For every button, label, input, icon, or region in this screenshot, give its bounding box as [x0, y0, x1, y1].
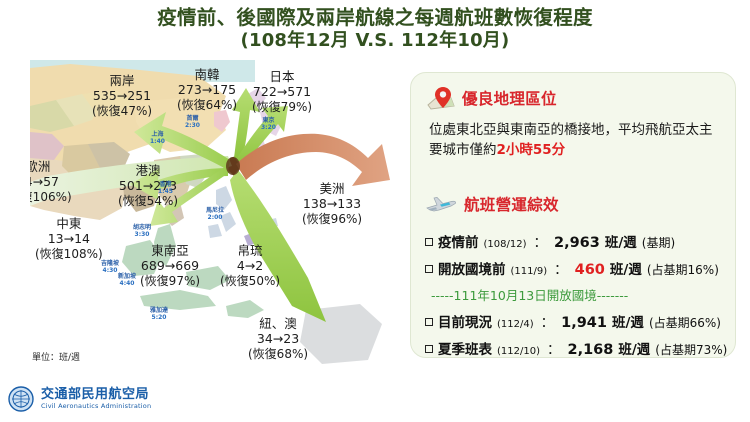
region-name: 中東: [35, 217, 103, 232]
operations-heading: 航班營運綜效: [464, 193, 559, 215]
geography-text: 位處東北亞與東南亞的橋接地，平均飛航亞太主要城市僅約: [429, 122, 713, 158]
stat-unit: 班/週: [618, 338, 650, 358]
stat-row: 開放國境前 (111/9) ： 460 班/週 (占基期16%): [425, 258, 729, 278]
stat-colon: ：: [541, 311, 555, 331]
stat-label: 夏季班表: [438, 338, 492, 358]
region-recovery: (恢復50%): [220, 274, 280, 288]
geography-highlight: 2小時55分: [497, 142, 566, 158]
geography-description: 位處東北亞與東南亞的橋接地，平均飛航亞太主要城市僅約2小時55分: [429, 120, 725, 161]
region-recovery: (恢復68%): [248, 347, 308, 361]
region-flights: 689→669: [140, 259, 200, 274]
stat-share: (占基期16%): [647, 261, 719, 278]
operations-section-header: 航班營運綜效: [425, 193, 559, 215]
city-marker: 胡志明 3:30: [133, 225, 151, 238]
region-label: 兩岸 535→251 (恢復47%): [92, 74, 152, 118]
stat-row: 目前現況 (112/4) ： 1,941 班/週 (占基期66%): [425, 311, 729, 331]
route-map: 兩岸 535→251 (恢復47%) 南韓 273→175 (恢復64%) 日本…: [30, 60, 402, 378]
unit-label: 單位：班/週: [32, 350, 80, 363]
stat-share: (占基期66%): [649, 314, 721, 331]
checkbox-icon: [425, 345, 433, 353]
region-name: 南韓: [177, 68, 237, 83]
stat-date: (112/4): [497, 319, 534, 330]
region-recovery: (恢復108%): [35, 247, 103, 261]
region-recovery: (恢復54%): [118, 194, 178, 208]
region-flights: 54→57: [30, 175, 72, 190]
region-label: 東南亞 689→669 (恢復97%): [140, 244, 200, 288]
stat-value: 2,168: [567, 342, 613, 358]
stat-date: (108/12): [484, 239, 527, 250]
region-name: 帛琉: [220, 244, 280, 259]
stat-unit: 班/週: [610, 258, 642, 278]
region-recovery: (恢復106%): [30, 190, 72, 204]
stat-value: 2,963: [554, 235, 600, 251]
stat-share: (基期): [642, 234, 675, 251]
region-flights: 535→251: [92, 89, 152, 104]
region-name: 兩岸: [92, 74, 152, 89]
checkbox-icon: [425, 265, 433, 273]
city-marker: 東京 3:20: [261, 118, 276, 131]
stat-row: 夏季班表 (112/10) ： 2,168 班/週 (占基期73%): [425, 338, 729, 358]
region-flights: 34→23: [248, 332, 308, 347]
region-recovery: (恢復97%): [140, 274, 200, 288]
agency-name-cn: 交通部民用航空局: [41, 388, 151, 403]
city-marker: 雅加達 5:20: [150, 308, 168, 321]
checkbox-icon: [425, 238, 433, 246]
stat-date: (112/10): [497, 346, 540, 357]
stat-unit: 班/週: [612, 311, 644, 331]
agency-name-block: 交通部民用航空局 Civil Aeronautics Administratio…: [41, 388, 151, 410]
city-marker: 首爾 2:30: [185, 116, 200, 129]
region-label: 紐、澳 34→23 (恢復68%): [248, 317, 308, 361]
region-label: 南韓 273→175 (恢復64%): [177, 68, 237, 112]
stat-colon: ：: [533, 231, 547, 251]
geography-section-header: 優良地理區位: [425, 85, 557, 111]
region-label: 日本 722→571 (恢復79%): [252, 70, 312, 114]
flight-statistics-list: 疫情前 (108/12) ： 2,963 班/週 (基期) 開放國境前 (111…: [425, 231, 729, 365]
infographic-page: 疫情前、後國際及兩岸航線之每週航班數恢復程度 (108年12月 V.S. 112…: [0, 0, 750, 422]
caa-logo-icon: [8, 386, 34, 412]
city-marker: 吉隆坡 4:30: [101, 261, 119, 274]
region-flights: 138→133: [302, 197, 362, 212]
page-title: 疫情前、後國際及兩岸航線之每週航班數恢復程度 (108年12月 V.S. 112…: [0, 6, 750, 53]
region-label: 中東 13→14 (恢復108%): [35, 217, 103, 261]
location-pin-icon: [425, 85, 455, 111]
city-flight-time: 2:00: [206, 215, 224, 222]
summary-panel: 優良地理區位 位處東北亞與東南亞的橋接地，平均飛航亞太主要城市僅約2小時55分 …: [410, 72, 736, 358]
region-name: 歐洲: [30, 160, 72, 175]
city-flight-time: 4:40: [118, 281, 136, 288]
city-flight-time: 4:30: [101, 268, 119, 275]
region-label: 歐洲 54→57 (恢復106%): [30, 160, 72, 204]
region-recovery: (恢復79%): [252, 100, 312, 114]
city-marker: 上海 1:40: [150, 132, 165, 145]
title-line-2: (108年12月 V.S. 112年10月): [0, 30, 750, 53]
stat-value: 460: [575, 262, 605, 278]
region-recovery: (恢復64%): [177, 98, 237, 112]
city-flight-time: 1:45: [158, 189, 173, 196]
city-flight-time: 3:20: [261, 125, 276, 132]
region-flights: 4→2: [220, 259, 280, 274]
stat-date: (111/9): [511, 266, 548, 277]
city-flight-time: 2:30: [185, 123, 200, 130]
stat-label: 目前現況: [438, 311, 492, 331]
region-name: 美洲: [302, 182, 362, 197]
title-line-1: 疫情前、後國際及兩岸航線之每週航班數恢復程度: [0, 6, 750, 30]
city-flight-time: 5:20: [150, 315, 168, 322]
city-flight-time: 3:30: [133, 232, 151, 239]
city-flight-time: 1:40: [150, 139, 165, 146]
agency-footer: 交通部民用航空局 Civil Aeronautics Administratio…: [8, 386, 151, 412]
region-label: 帛琉 4→2 (恢復50%): [220, 244, 280, 288]
stat-colon: ：: [554, 258, 568, 278]
stat-unit: 班/週: [605, 231, 637, 251]
region-name: 日本: [252, 70, 312, 85]
stat-colon: ：: [547, 338, 561, 358]
city-marker: 香港 1:45: [158, 182, 173, 195]
region-label: 美洲 138→133 (恢復96%): [302, 182, 362, 226]
region-name: 港澳: [118, 164, 178, 179]
agency-name-en: Civil Aeronautics Administration: [41, 403, 151, 410]
region-recovery: (恢復47%): [92, 104, 152, 118]
airplane-icon: [425, 194, 457, 214]
stat-label: 開放國境前: [438, 258, 506, 278]
border-reopening-note: -----111年10月13日開放國境-------: [431, 285, 729, 304]
stat-row: 疫情前 (108/12) ： 2,963 班/週 (基期): [425, 231, 729, 251]
city-marker: 新加坡 4:40: [118, 274, 136, 287]
geography-heading: 優良地理區位: [462, 87, 557, 109]
region-name: 紐、澳: [248, 317, 308, 332]
stat-value: 1,941: [561, 315, 607, 331]
region-flights: 722→571: [252, 85, 312, 100]
region-flights: 13→14: [35, 232, 103, 247]
stat-share: (占基期73%): [655, 341, 727, 358]
region-flights: 273→175: [177, 83, 237, 98]
city-marker: 馬尼拉 2:00: [206, 208, 224, 221]
checkbox-icon: [425, 318, 433, 326]
region-recovery: (恢復96%): [302, 212, 362, 226]
stat-label: 疫情前: [438, 231, 479, 251]
region-name: 東南亞: [140, 244, 200, 259]
